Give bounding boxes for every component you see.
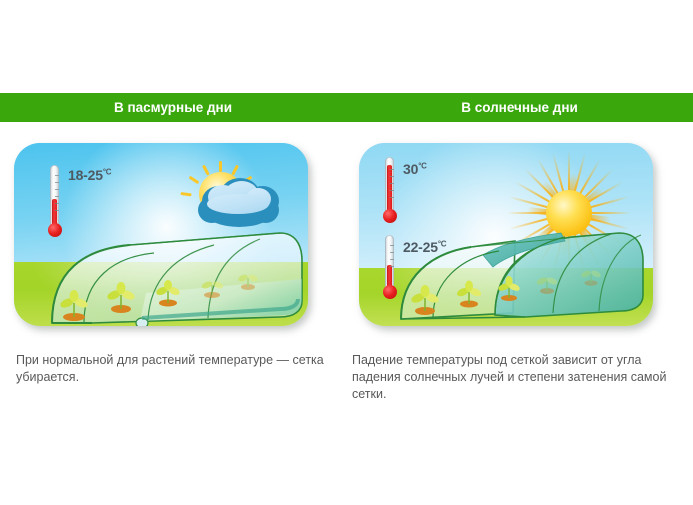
temperature-unit: °C [103,167,112,176]
thermometer-tick [390,245,394,246]
sun-ray-icon [202,165,210,176]
thermometer-tick [55,196,59,197]
temperature-value: 18-25 [68,167,103,183]
thermometer-tick [55,189,59,190]
scene-sunny: 30°C 22-25°C [359,143,653,326]
thermometer-tick [390,169,394,170]
header-label-sunny: В солнечные дни [346,93,693,122]
caption-sunny: Падение температуры под сеткой зависит о… [352,352,672,403]
thermometer-cloudy [46,165,64,237]
caption-cloudy: При нормальной для растений температуре … [16,352,328,386]
thermometer-tick [55,203,59,204]
illustration-cards-row: 18-25°C [0,143,693,333]
cloud-highlight-icon [207,194,269,214]
greenhouse-tunnel-cloudy [22,231,308,326]
illustration-card-sunny: 30°C 22-25°C [359,143,653,326]
scene-cloudy: 18-25°C [14,143,308,326]
thermometer-tick [55,210,59,211]
temperature-unit: °C [438,239,447,248]
header-label-cloudy: В пасмурные дни [0,93,346,122]
thermometer-tick [390,259,394,260]
thermometer-bulb [48,223,62,237]
sun-ray-icon [189,176,200,185]
thermometer-tick [390,197,394,198]
thermometer-bulb [383,209,397,223]
thermometer-tick [55,175,59,176]
temperature-value: 22-25 [403,239,438,255]
sun-behind-cloud-icon [182,161,284,231]
section-header-bar: В пасмурные дни В солнечные дни [0,93,693,122]
temperature-label-cloudy: 18-25°C [68,167,111,183]
temperature-unit: °C [418,161,427,170]
temperature-label-sunny-inside: 22-25°C [403,239,446,255]
temperature-value: 30 [403,161,418,177]
greenhouse-tunnel-sunny [375,221,653,326]
thermometer-bulb [383,285,397,299]
thermometer-sunny-outside [381,157,399,223]
thermometer-tick [55,182,59,183]
thermometer-tick [390,252,394,253]
sun-ray-icon [219,161,222,172]
thermometer-tick [390,190,394,191]
illustration-card-cloudy: 18-25°C [14,143,308,326]
temperature-label-sunny-outside: 30°C [403,161,427,177]
thermometer-sunny-inside [381,235,399,299]
sun-ray-icon [231,165,239,176]
thermometer-tick [390,176,394,177]
thermometer-tick [390,183,394,184]
thermometer-tick [390,266,394,267]
sun-ray-icon [180,192,191,197]
